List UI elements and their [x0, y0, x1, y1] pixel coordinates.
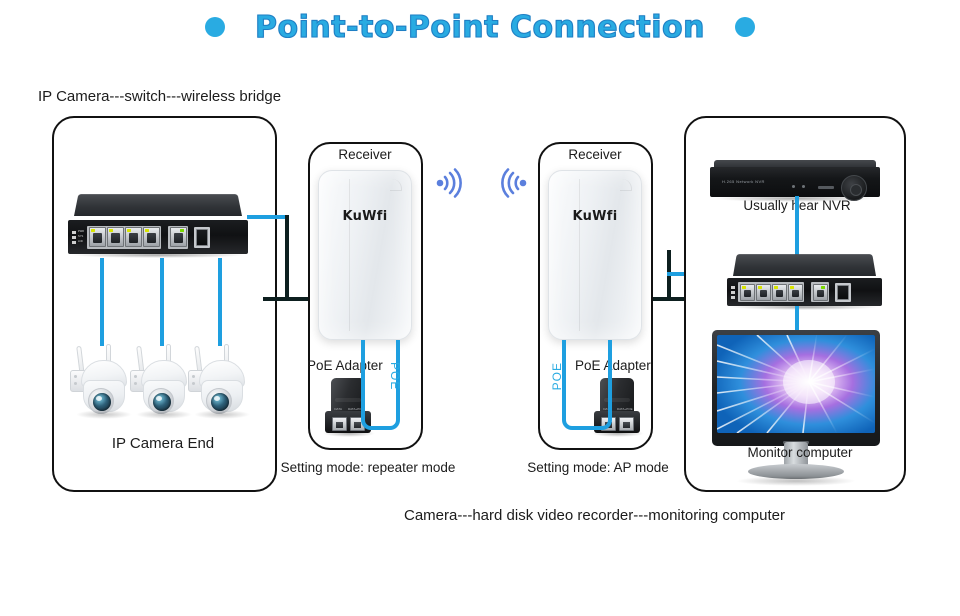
poe-jack-data: [332, 417, 347, 431]
switch-uplink-port-bank: [811, 282, 829, 302]
camera-shadow: [194, 410, 250, 419]
wireless-bridge-cpe-left: KuWfi: [318, 170, 412, 340]
switch-port-4: [143, 227, 160, 247]
cpe-seam: [349, 179, 350, 331]
switch-top-cover: [733, 254, 876, 276]
switch-sfp-slot: [837, 285, 849, 300]
poe-jack-data-poe: [619, 417, 634, 431]
ip-camera-end-label: IP Camera End: [112, 435, 214, 452]
wireless-bridge-cpe-right: KuWfi: [548, 170, 642, 340]
poe-cable-right: [562, 340, 612, 430]
switch-uplink-port-bank: [168, 226, 188, 249]
title-dot-right: [735, 17, 755, 37]
camera-lens: [93, 393, 111, 411]
switch-port-4: [788, 284, 803, 301]
setting-mode-label-left: Setting mode: repeater mode: [281, 460, 456, 475]
monitor-label: Monitor computer: [747, 445, 852, 460]
title-dot-left: [205, 17, 225, 37]
nvr-front-panel: H.265 Network NVR: [710, 167, 880, 197]
cpe-seam: [579, 179, 580, 331]
switch-shadow: [729, 304, 880, 310]
camera-lens: [211, 393, 229, 411]
panel-link-left-vertical: [285, 215, 289, 299]
cable-switch-to-camera-1: [100, 258, 104, 346]
nvr-indicator-bar: [818, 186, 834, 189]
network-switch-right: [727, 252, 882, 310]
monitor-bezel: [712, 330, 880, 446]
receiver-label-left: Receiver: [338, 147, 391, 162]
cpe-brand-right: KuWfi: [549, 209, 641, 224]
switch-uplink-port: [813, 284, 828, 301]
diagram-canvas: Point-to-Point Connection IP Camera---sw…: [0, 0, 960, 616]
monitor-shadow: [736, 476, 856, 486]
page-title: Point-to-Point Connection: [255, 10, 705, 45]
switch-status-leds: PWR SYS LNK: [72, 231, 84, 244]
ip-camera-3: [188, 344, 258, 422]
switch-port-2: [107, 227, 124, 247]
switch-sfp-slot: [196, 229, 208, 246]
switch-poe-port-bank: [738, 282, 804, 302]
poe-injector-shadow: [323, 430, 375, 437]
flow-label-top-left: IP Camera---switch---wireless bridge: [38, 88, 281, 105]
switch-port-1: [89, 227, 106, 247]
flow-label-bottom: Camera---hard disk video recorder---moni…: [404, 507, 785, 524]
wifi-signal-right-icon: [432, 166, 466, 200]
diagram-title-bar: Point-to-Point Connection: [0, 4, 960, 50]
cable-switch-to-camera-3: [218, 258, 222, 346]
cable-switch-to-camera-2: [160, 258, 164, 346]
receiver-label-right: Receiver: [568, 147, 621, 162]
monitor-screen: [717, 335, 875, 433]
switch-top-cover: [74, 194, 242, 216]
monitor-wallpaper: [717, 335, 875, 433]
switch-front-panel: PWR SYS LNK: [68, 220, 248, 254]
cpe-corner-notch: [620, 179, 632, 191]
switch-status-leds: [731, 286, 735, 299]
wifi-signal-left-icon: [497, 166, 531, 200]
setting-mode-label-right: Setting mode: AP mode: [527, 460, 669, 475]
switch-uplink-port: [170, 227, 187, 247]
switch-sfp-bank: [835, 283, 851, 302]
network-switch-left: PWR SYS LNK: [68, 192, 248, 258]
nvr-model-text: H.265 Network NVR: [722, 179, 765, 184]
switch-port-3: [772, 284, 787, 301]
switch-port-3: [125, 227, 142, 247]
poe-injector-shadow: [592, 430, 644, 437]
switch-front-panel: [727, 278, 882, 306]
switch-sfp-bank: [194, 227, 210, 248]
switch-port-1: [740, 284, 755, 301]
poe-cable-label-right: POE: [550, 362, 564, 390]
switch-poe-port-bank: [87, 226, 161, 249]
camera-shadow: [76, 410, 132, 419]
switch-port-2: [756, 284, 771, 301]
cable-switch-to-bridge: [247, 215, 287, 219]
cable-nvr-to-switch: [795, 196, 799, 260]
cpe-brand-left: KuWfi: [319, 209, 411, 224]
desktop-monitor: [712, 330, 880, 490]
camera-shadow: [136, 410, 192, 419]
camera-lens: [153, 393, 171, 411]
cpe-corner-notch: [390, 179, 402, 191]
poe-cable-label-left: POE: [388, 362, 402, 390]
